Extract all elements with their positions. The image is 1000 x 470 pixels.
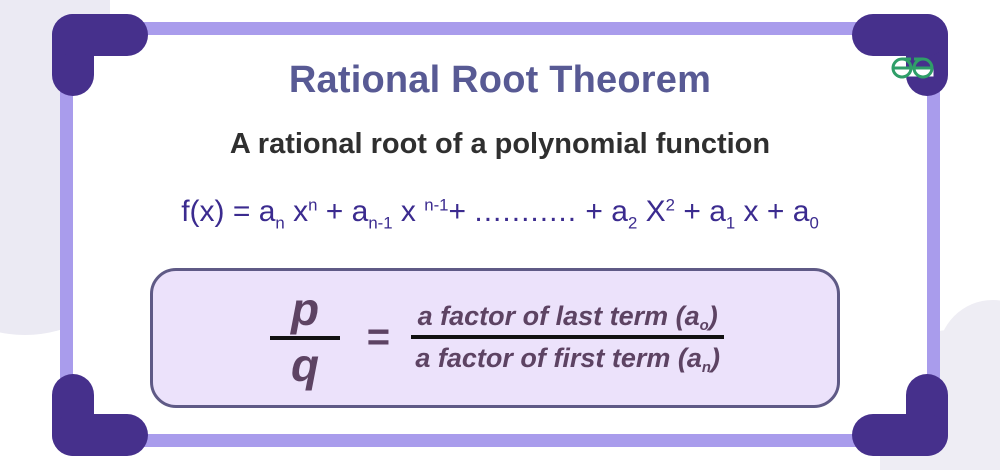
poly-sup-n-minus-1: n-1 (424, 196, 448, 215)
poly-sub-1: 1 (726, 214, 735, 233)
denominator-label: a factor of first term (a (415, 343, 702, 373)
poly-plus2: + (449, 195, 475, 228)
poly-ellipsis: ........... (474, 195, 577, 228)
poly-sub-2: 2 (628, 214, 637, 233)
fraction-numerator-p: p (291, 285, 319, 335)
card-content: Rational Root Theorem A rational root of… (73, 35, 927, 434)
poly-plus3: + a (577, 195, 628, 228)
fraction-numerator-text: a factor of last term (ao) (414, 301, 722, 331)
poly-x3: x + a (735, 195, 809, 228)
numerator-subscript: o (700, 318, 709, 334)
infographic-canvas: Rational Root Theorem A rational root of… (0, 0, 1000, 470)
poly-x1: x (285, 195, 308, 228)
poly-sub-0: 0 (809, 214, 818, 233)
fraction-highlight-box: p q = a factor of last term (ao) a facto… (150, 268, 840, 408)
poly-sub-n: n (275, 214, 284, 233)
geeksforgeeks-logo-icon (888, 52, 938, 84)
denominator-close-paren: ) (711, 343, 720, 373)
fraction-left-pq: p q (266, 285, 344, 390)
poly-sup-2: 2 (666, 196, 675, 215)
fraction-right-expression: a factor of last term (ao) a factor of f… (411, 301, 724, 374)
poly-plus4: + a (675, 195, 726, 228)
fraction-bar-right (411, 335, 724, 339)
poly-x2: x (393, 195, 425, 228)
polynomial-formula: f(x) = an xn + an-1 x n-1+ ........... +… (73, 195, 927, 229)
denominator-subscript: n (702, 360, 711, 376)
poly-sub-n-minus-1: n-1 (368, 214, 392, 233)
equals-sign: = (366, 317, 389, 357)
page-title: Rational Root Theorem (73, 59, 927, 102)
fraction-equation: p q = a factor of last term (ao) a facto… (266, 285, 724, 390)
poly-fx: f(x) = a (181, 195, 275, 228)
numerator-label: a factor of last term (a (418, 301, 700, 331)
poly-X-cap: X (637, 195, 665, 228)
fraction-denominator-text: a factor of first term (an) (411, 343, 724, 373)
subtitle-text: A rational root of a polynomial function (73, 128, 927, 161)
numerator-close-paren: ) (709, 301, 718, 331)
poly-plus1: + a (317, 195, 368, 228)
fraction-denominator-q: q (291, 341, 319, 389)
